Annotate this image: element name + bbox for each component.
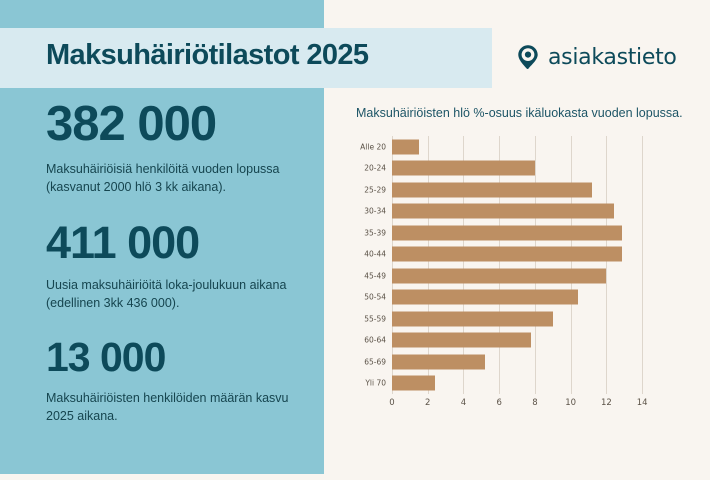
infographic-root: Maksuhäiriötilastot 2025 asiakastieto 38… xyxy=(0,0,710,480)
bar xyxy=(392,161,535,176)
bar xyxy=(392,290,578,305)
logo-wordmark: asiakastieto xyxy=(548,45,677,70)
bar xyxy=(392,182,592,197)
bar xyxy=(392,333,531,348)
x-axis-tick-label: 12 xyxy=(601,398,612,408)
bar xyxy=(392,225,622,240)
bar xyxy=(392,204,614,219)
bar xyxy=(392,139,419,154)
stat-item: 382 000 Maksuhäiriöisiä henkilöitä vuode… xyxy=(46,100,316,196)
y-axis-labels: Alle 2020-2425-2930-3435-3940-4445-4950-… xyxy=(352,136,390,394)
bar xyxy=(392,311,553,326)
bar-chart: Alle 2020-2425-2930-3435-3940-4445-4950-… xyxy=(352,136,672,414)
x-axis-tick-label: 2 xyxy=(425,398,430,408)
bar xyxy=(392,247,622,262)
brand-logo: asiakastieto xyxy=(515,44,677,70)
x-axis-tick-label: 6 xyxy=(496,398,501,408)
stat-description: Maksuhäiriöisiä henkilöitä vuoden lopuss… xyxy=(46,160,316,196)
y-axis-tick-label: 60-64 xyxy=(364,336,386,345)
x-axis-tick-label: 14 xyxy=(637,398,648,408)
gridline xyxy=(571,136,572,394)
x-axis-tick-label: 4 xyxy=(461,398,466,408)
stat-description: Maksuhäiriöisten henkilöiden määrän kasv… xyxy=(46,389,316,425)
x-axis-tick-label: 0 xyxy=(389,398,394,408)
stats-list: 382 000 Maksuhäiriöisiä henkilöitä vuode… xyxy=(46,100,316,425)
gridline xyxy=(642,136,643,394)
y-axis-tick-label: 55-59 xyxy=(364,314,386,323)
stat-number: 411 000 xyxy=(46,220,316,265)
gridline xyxy=(606,136,607,394)
y-axis-tick-label: 45-49 xyxy=(364,271,386,280)
stat-number: 382 000 xyxy=(46,100,316,149)
y-axis-tick-label: 40-44 xyxy=(364,250,386,259)
bar xyxy=(392,354,485,369)
y-axis-tick-label: 35-39 xyxy=(364,228,386,237)
stat-description: Uusia maksuhäiriöitä loka-joulukuun aika… xyxy=(46,276,316,312)
location-pin-icon xyxy=(515,44,541,70)
x-axis-tick-label: 10 xyxy=(565,398,576,408)
bar xyxy=(392,268,606,283)
y-axis-tick-label: 30-34 xyxy=(364,207,386,216)
stat-item: 411 000 Uusia maksuhäiriöitä loka-jouluk… xyxy=(46,220,316,312)
y-axis-tick-label: Alle 20 xyxy=(360,142,386,151)
y-axis-tick-label: 20-24 xyxy=(364,164,386,173)
plot-inner xyxy=(392,136,660,394)
y-axis-tick-label: 50-54 xyxy=(364,293,386,302)
stat-item: 13 000 Maksuhäiriöisten henkilöiden määr… xyxy=(46,337,316,425)
y-axis-tick-label: 25-29 xyxy=(364,185,386,194)
bar xyxy=(392,376,435,391)
page-title: Maksuhäiriötilastot 2025 xyxy=(46,39,368,72)
x-axis-labels: 02468101214 xyxy=(392,398,660,414)
chart-title: Maksuhäiriöisten hlö %-osuus ikäluokasta… xyxy=(356,104,686,122)
stat-number: 13 000 xyxy=(46,337,316,378)
x-axis-tick-label: 8 xyxy=(532,398,537,408)
y-axis-tick-label: Yli 70 xyxy=(365,379,386,388)
chart-area: Maksuhäiriöisten hlö %-osuus ikäluokasta… xyxy=(352,104,686,434)
y-axis-tick-label: 65-69 xyxy=(364,357,386,366)
gridline xyxy=(535,136,536,394)
